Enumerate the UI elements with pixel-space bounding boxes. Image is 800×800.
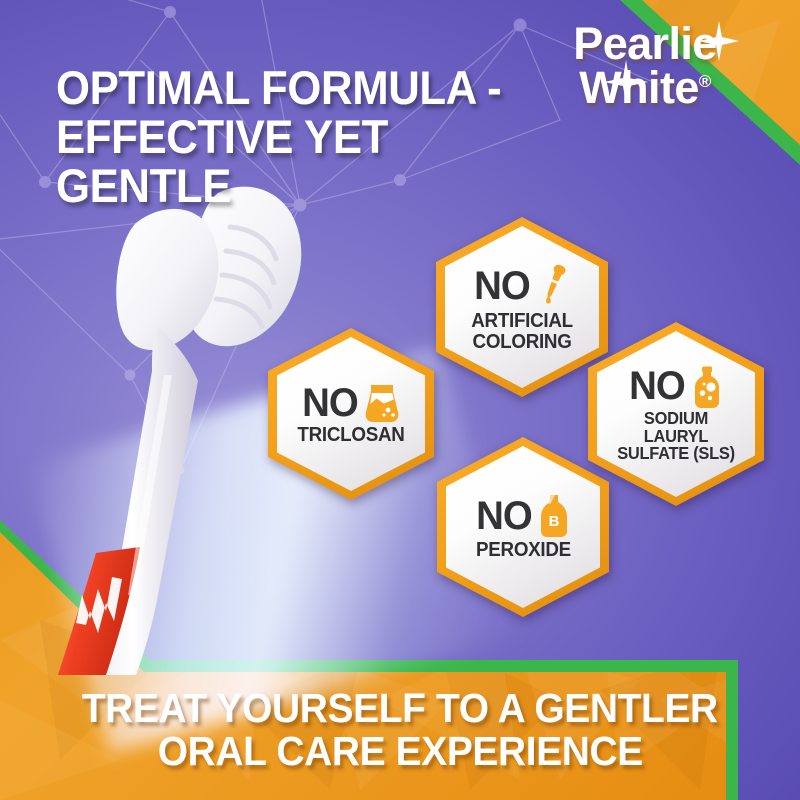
jug-letter: B (549, 513, 560, 530)
logo-line-2-wrap: White® (520, 66, 770, 110)
hex-face: NO B PEROXIDE (446, 446, 600, 608)
hex-face: NO SODIUM LAURYL SULFATE (SLS) (597, 331, 755, 497)
logo-line-2: White (579, 62, 698, 113)
badge-top-row: NO (473, 262, 571, 310)
registered-mark-icon: ® (699, 72, 711, 91)
banner-line-1: TREAT YOURSELF TO A GENTLER (82, 687, 718, 730)
promo-poster: OPTIMAL FORMULA - EFFECTIVE YET GENTLE P… (0, 0, 800, 800)
badge-no-sls[interactable]: NO SODIUM LAURYL SULFATE (SLS) (588, 322, 764, 506)
badge-label: SODIUM LAURYL SULFATE (SLS) (611, 410, 741, 464)
badge-no-artificial-coloring[interactable]: NO ARTIFICIAL COLORING (436, 217, 608, 397)
bottom-banner: TREAT YOURSELF TO A GENTLER ORAL CARE EX… (0, 660, 800, 800)
hex-face: NO ARTIFICIAL COLORING (445, 226, 599, 388)
badge-no-peroxide[interactable]: NO B PEROXIDE (437, 437, 609, 617)
badge-label: ARTIFICIAL COLORING (471, 311, 573, 352)
badge-no-text: NO (476, 498, 532, 535)
beaker-icon (363, 382, 401, 424)
dropper-icon (535, 262, 571, 310)
brand-logo: Pearlie White® (520, 22, 770, 132)
headline-line-1: OPTIMAL FORMULA - (56, 61, 501, 114)
badge-label: PEROXIDE (476, 540, 571, 560)
badge-top-row: NO (301, 382, 401, 424)
badge-no-text: NO (629, 368, 685, 405)
hex-border: NO B PEROXIDE (437, 437, 609, 617)
hex-face: NO TRICLOSAN (277, 337, 425, 491)
bottle-bubbles-icon (690, 365, 724, 409)
badge-no-text: NO (302, 385, 358, 422)
jug-icon: B (537, 493, 571, 539)
hex-border: NO ARTIFICIAL COLORING (436, 217, 608, 397)
headline-line-2: EFFECTIVE YET GENTLE (56, 113, 540, 211)
badge-top-row: NO B (475, 493, 571, 539)
logo-line-1: Pearlie (520, 22, 770, 66)
page-title: OPTIMAL FORMULA - EFFECTIVE YET GENTLE (56, 64, 540, 211)
badge-label: TRICLOSAN (297, 425, 404, 445)
hex-border: NO SODIUM LAURYL SULFATE (SLS) (588, 322, 764, 506)
badge-top-row: NO (628, 365, 724, 409)
badge-no-triclosan[interactable]: NO TRICLOSAN (268, 328, 434, 500)
badge-no-text: NO (474, 268, 530, 305)
banner-line-2: ORAL CARE EXPERIENCE (157, 730, 642, 773)
hex-border: NO TRICLOSAN (268, 328, 434, 500)
